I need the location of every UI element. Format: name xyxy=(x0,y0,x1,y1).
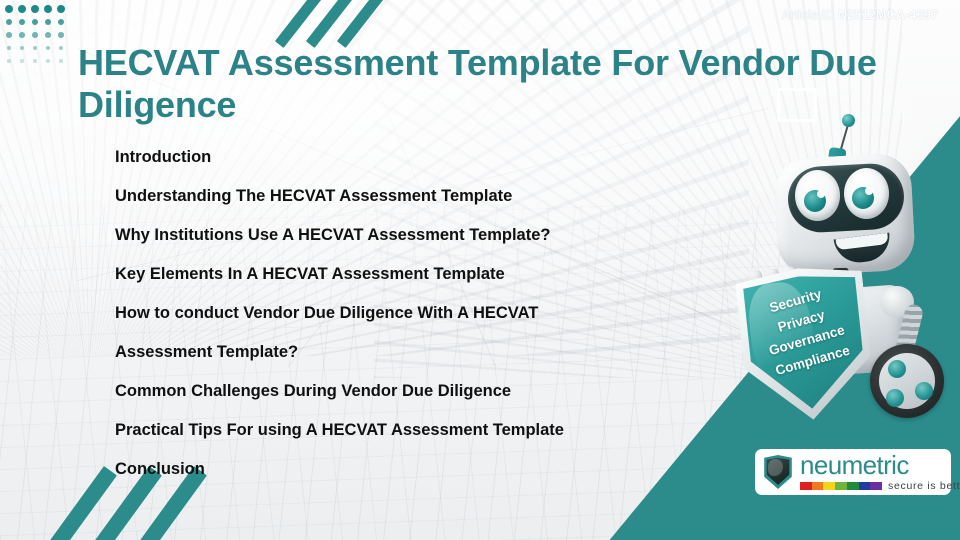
logo-tagline: secure is better xyxy=(888,480,960,492)
dot xyxy=(59,46,63,50)
agenda-item: Key Elements In A HECVAT Assessment Temp… xyxy=(115,255,715,294)
agenda-item: Conclusion xyxy=(115,450,715,489)
robot-wheel xyxy=(870,344,944,418)
agenda-item: Understanding The HECVAT Assessment Temp… xyxy=(115,177,715,216)
logo-text-block: neumetric secure is better xyxy=(800,452,960,492)
agenda-item: Practical Tips For using A HECVAT Assess… xyxy=(115,411,715,450)
dot xyxy=(7,59,10,62)
dot xyxy=(33,59,36,62)
slide: Article ID N2512MCA-4397 HECVAT Assessme… xyxy=(0,0,960,540)
logo-bottom-row: secure is better xyxy=(800,480,960,492)
article-id-value: N2512MCA-4397 xyxy=(838,8,938,22)
agenda-item: Introduction xyxy=(115,138,715,177)
logo-bar-segment xyxy=(800,482,812,490)
logo-bar-segment xyxy=(847,482,859,490)
robot-wheel-hub xyxy=(886,389,904,407)
agenda-item: Assessment Template? xyxy=(115,333,715,372)
dot xyxy=(6,32,12,38)
dot xyxy=(19,19,26,26)
dot xyxy=(46,46,50,50)
dot xyxy=(57,5,65,13)
dot xyxy=(33,46,37,50)
mascot-shield-icon: SecurityPrivacyGovernanceCompliance xyxy=(730,261,880,426)
agenda-item: Why Institutions Use A HECVAT Assessment… xyxy=(115,216,715,255)
dot xyxy=(34,73,37,76)
robot-wheel-hub xyxy=(915,382,933,400)
logo-bar-segment xyxy=(859,482,871,490)
dot xyxy=(19,32,25,38)
robot-mascot: SecurityPrivacyGovernanceCompliance xyxy=(718,108,960,428)
logo-wordmark: neumetric xyxy=(800,452,960,478)
logo-shield-icon xyxy=(763,455,793,489)
top-diagonal-stripes xyxy=(318,0,438,42)
dot xyxy=(20,46,24,50)
dot xyxy=(58,19,65,26)
logo-bar-segment xyxy=(870,482,882,490)
robot-wheel-hub xyxy=(888,360,906,378)
dot xyxy=(6,19,13,26)
agenda-list: IntroductionUnderstanding The HECVAT Ass… xyxy=(115,138,715,489)
dot xyxy=(5,5,13,13)
agenda-item: How to conduct Vendor Due Diligence With… xyxy=(115,294,715,333)
logo-bar-segment xyxy=(835,482,847,490)
article-id: Article ID N2512MCA-4397 xyxy=(782,8,938,22)
dot xyxy=(32,32,38,38)
article-id-label: Article ID xyxy=(782,8,835,22)
dot xyxy=(60,73,63,76)
dot xyxy=(20,59,23,62)
logo-color-bar xyxy=(800,482,882,490)
dot xyxy=(18,5,26,13)
dot xyxy=(31,5,39,13)
dot xyxy=(58,32,64,38)
robot-eye-glint-left xyxy=(817,190,825,198)
logo-bar-segment xyxy=(812,482,824,490)
dot xyxy=(32,19,39,26)
dot xyxy=(47,73,50,76)
dot xyxy=(45,32,51,38)
dot-grid-decoration xyxy=(0,0,72,74)
dot xyxy=(46,59,49,62)
dot xyxy=(59,59,62,62)
dot xyxy=(21,73,24,76)
neumetric-logo[interactable]: neumetric secure is better xyxy=(755,449,951,495)
dot xyxy=(45,19,52,26)
dot xyxy=(7,46,11,50)
logo-bar-segment xyxy=(823,482,835,490)
dot xyxy=(8,73,11,76)
agenda-item: Common Challenges During Vendor Due Dili… xyxy=(115,372,715,411)
antenna-ball-icon xyxy=(842,114,855,127)
dot xyxy=(44,5,52,13)
robot-eye-glint-right xyxy=(865,187,873,195)
